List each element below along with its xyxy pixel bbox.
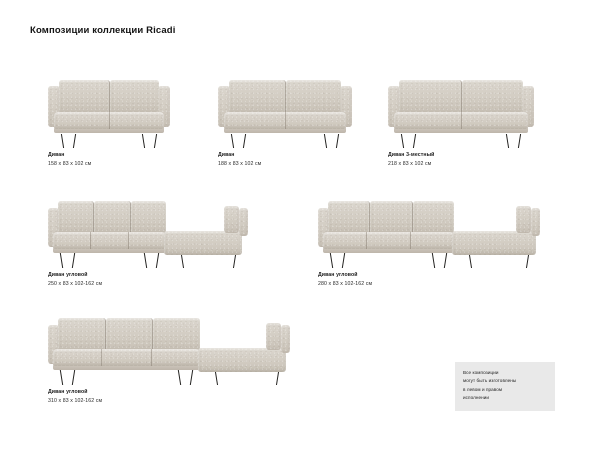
- product-dimensions: 280 x 83 x 102-162 см: [318, 280, 550, 288]
- sofa-back-cushions: [399, 80, 523, 114]
- seat-cushion: [110, 112, 165, 130]
- sofa-back-cushions: [59, 80, 159, 114]
- back-cushion: [399, 80, 462, 114]
- product-card[interactable]: Диван 3-местный 218 x 83 x 102 см: [388, 70, 540, 168]
- chaise-bolster: [224, 206, 239, 233]
- sofa-leg: [156, 253, 160, 268]
- product-image: [388, 70, 540, 148]
- sofa-leg: [142, 134, 146, 148]
- sofa-leg: [178, 370, 182, 385]
- sofa-illustration: [388, 70, 534, 148]
- product-name: Диван угловой: [48, 272, 258, 280]
- page-title: Композиции коллекции Ricadi: [30, 25, 176, 36]
- sofa-leg: [72, 370, 76, 385]
- product-caption: Диван 3-местный 218 x 83 x 102 см: [388, 152, 540, 168]
- sofa-leg: [181, 255, 184, 268]
- corner-sofa-illustration: [48, 307, 296, 385]
- back-cushion: [59, 80, 110, 114]
- back-cushion: [370, 201, 412, 234]
- product-name: Диван: [218, 152, 358, 160]
- sofa-back-cushions: [58, 318, 200, 351]
- sofa-leg: [342, 253, 346, 268]
- seat-cushion: [102, 349, 151, 367]
- seat-cushion: [54, 112, 110, 130]
- seat-cushion: [152, 349, 200, 367]
- seat-cushion: [129, 232, 166, 250]
- sofa-seat: [54, 112, 164, 130]
- sofa-leg: [276, 372, 279, 385]
- sofa-back-cushions: [58, 201, 166, 234]
- sofa-leg: [432, 253, 436, 268]
- sofa-leg: [526, 255, 529, 268]
- seat-cushion: [91, 232, 129, 250]
- product-name: Диван угловой: [318, 272, 550, 280]
- corner-sofa-illustration: [318, 190, 546, 268]
- chaise-arm-right: [281, 325, 290, 353]
- sofa-leg: [324, 134, 328, 148]
- product-dimensions: 218 x 83 x 102 см: [388, 160, 540, 168]
- product-card[interactable]: Диван угловой 280 x 83 x 102-162 см: [318, 190, 550, 288]
- sofa-base: [323, 249, 454, 253]
- product-image: [318, 190, 550, 268]
- product-image: [48, 190, 258, 268]
- back-cushion: [131, 201, 166, 234]
- product-card[interactable]: Диван угловой 310 x 83 x 102-162 см: [48, 307, 300, 405]
- sofa-leg: [330, 253, 334, 268]
- back-cushion: [153, 318, 200, 351]
- info-note-box: Все композиции могут быть изготовлены в …: [455, 362, 555, 411]
- product-name: Диван: [48, 152, 178, 160]
- sofa-base: [224, 129, 346, 133]
- seat-cushion: [411, 232, 454, 250]
- seat-cushion: [323, 232, 367, 250]
- product-image: [48, 70, 178, 148]
- product-name: Диван угловой: [48, 389, 300, 397]
- product-caption: Диван 158 x 83 x 102 см: [48, 152, 178, 168]
- product-caption: Диван угловой 310 x 83 x 102-162 см: [48, 389, 300, 405]
- product-image: [218, 70, 358, 148]
- sofa-seat: [53, 349, 200, 367]
- product-caption: Диван угловой 280 x 83 x 102-162 см: [318, 272, 550, 288]
- sofa-illustration: [48, 70, 170, 148]
- sofa-illustration: [218, 70, 352, 148]
- sofa-leg: [233, 255, 236, 268]
- seat-cushion: [286, 112, 347, 130]
- sofa-leg: [60, 253, 64, 268]
- product-dimensions: 310 x 83 x 102-162 см: [48, 397, 300, 405]
- chaise-arm-right: [531, 208, 540, 236]
- product-dimensions: 250 x 83 x 102-162 см: [48, 280, 258, 288]
- seat-cushion: [224, 112, 286, 130]
- product-dimensions: 188 x 83 x 102 см: [218, 160, 358, 168]
- sofa-leg: [413, 134, 417, 148]
- sofa-leg: [60, 370, 64, 385]
- chaise-bolster: [266, 323, 281, 350]
- sofa-base: [53, 249, 166, 253]
- back-cushion: [229, 80, 286, 114]
- sofa-base: [394, 129, 528, 133]
- chaise-module: [198, 348, 286, 372]
- sofa-leg: [469, 255, 472, 268]
- sofa-leg: [61, 134, 65, 148]
- sofa-leg: [243, 134, 247, 148]
- back-cushion: [328, 201, 370, 234]
- back-cushion: [286, 80, 342, 114]
- sofa-leg: [401, 134, 405, 148]
- sofa-leg: [231, 134, 235, 148]
- sofa-leg: [518, 134, 522, 148]
- back-cushion: [413, 201, 454, 234]
- sofa-leg: [154, 134, 158, 148]
- seat-cushion: [462, 112, 529, 130]
- sofa-leg: [72, 253, 76, 268]
- sofa-leg: [73, 134, 77, 148]
- sofa-back-cushions: [229, 80, 341, 114]
- sofa-seat: [53, 232, 166, 250]
- back-cushion: [94, 201, 130, 234]
- corner-sofa-illustration: [48, 190, 254, 268]
- sofa-back-cushions: [328, 201, 454, 234]
- back-cushion: [58, 201, 94, 234]
- seat-cushion: [394, 112, 462, 130]
- sofa-leg: [144, 253, 148, 268]
- product-card[interactable]: Диван 188 x 83 x 102 см: [218, 70, 358, 168]
- sofa-leg: [336, 134, 340, 148]
- back-cushion: [110, 80, 160, 114]
- sofa-seat: [323, 232, 454, 250]
- catalog-page: Композиции коллекции Ricadi: [0, 0, 600, 450]
- back-cushion: [106, 318, 154, 351]
- sofa-leg: [190, 370, 194, 385]
- product-image: [48, 307, 300, 385]
- product-caption: Диван угловой 250 x 83 x 102-162 см: [48, 272, 258, 288]
- seat-cushion: [53, 232, 91, 250]
- back-cushion: [462, 80, 524, 114]
- chaise-arm-right: [239, 208, 248, 236]
- back-cushion: [58, 318, 106, 351]
- sofa-seat: [394, 112, 528, 130]
- chaise-bolster: [516, 206, 531, 233]
- sofa-base: [54, 129, 164, 133]
- product-card[interactable]: Диван 158 x 83 x 102 см: [48, 70, 178, 168]
- sofa-leg: [506, 134, 510, 148]
- info-note-text: Все композиции могут быть изготовлены в …: [463, 369, 547, 403]
- product-caption: Диван 188 x 83 x 102 см: [218, 152, 358, 168]
- sofa-leg: [444, 253, 448, 268]
- product-card[interactable]: Диван угловой 250 x 83 x 102-162 см: [48, 190, 258, 288]
- chaise-module: [452, 231, 536, 255]
- product-dimensions: 158 x 83 x 102 см: [48, 160, 178, 168]
- chaise-module: [164, 231, 242, 255]
- seat-cushion: [367, 232, 411, 250]
- sofa-seat: [224, 112, 346, 130]
- seat-cushion: [53, 349, 102, 367]
- product-name: Диван 3-местный: [388, 152, 540, 160]
- sofa-leg: [215, 372, 218, 385]
